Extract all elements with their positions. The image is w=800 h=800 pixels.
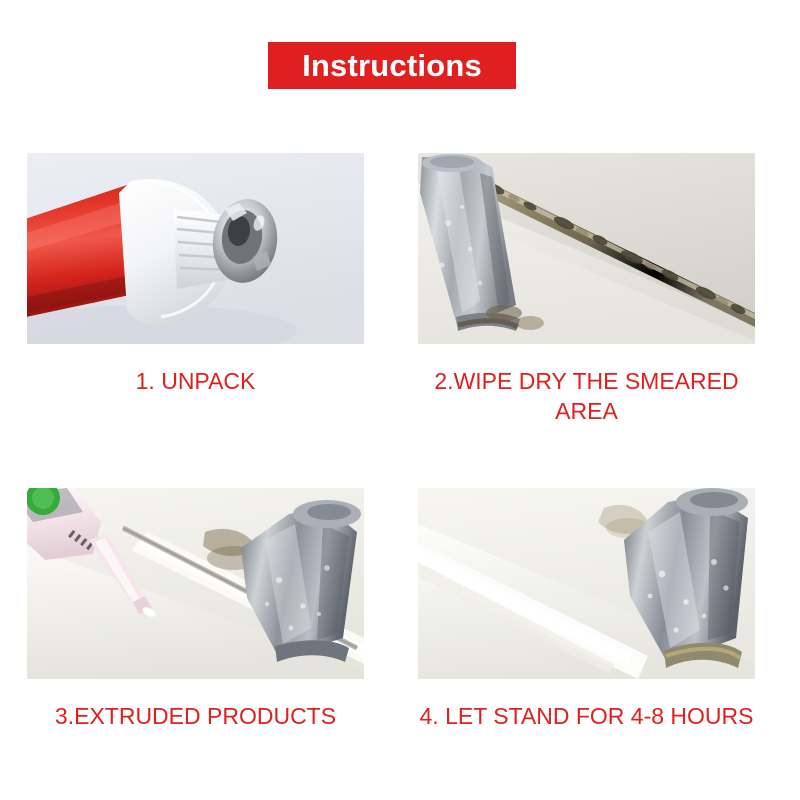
step-caption-4: 4. LET STAND FOR 4-8 HOURS <box>418 701 755 731</box>
photo-dirty-seam <box>418 153 755 344</box>
step-item-2: 2.WIPE DRY THE SMEARED AREA <box>418 153 755 427</box>
step-item-4: 4. LET STAND FOR 4-8 HOURS <box>418 488 755 731</box>
photo-finished-seam <box>418 488 755 679</box>
instructions-infographic: Instructions <box>0 0 800 800</box>
step-caption-3: 3.EXTRUDED PRODUCTS <box>27 701 364 731</box>
step-caption-2: 2.WIPE DRY THE SMEARED AREA <box>418 366 755 427</box>
step-caption-1: 1. UNPACK <box>27 366 364 396</box>
photo-unpack-tube <box>27 153 364 344</box>
step-item-1: 1. UNPACK <box>27 153 364 396</box>
step-item-3: 3.EXTRUDED PRODUCTS <box>27 488 364 731</box>
photo-applying-sealant <box>27 488 364 679</box>
steps-grid: 1. UNPACK <box>0 0 800 800</box>
